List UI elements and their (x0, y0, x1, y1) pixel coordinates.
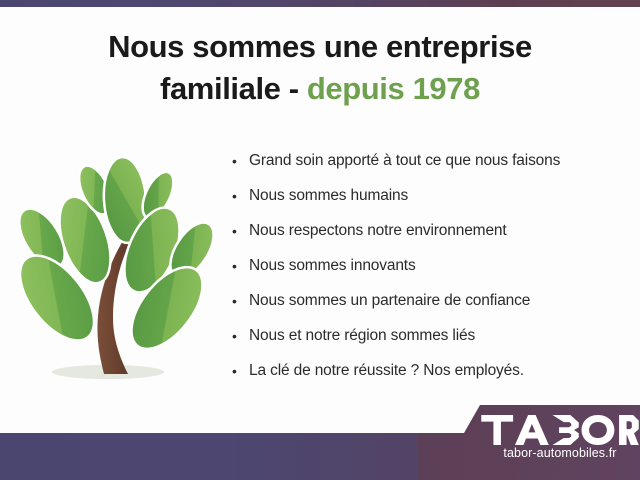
top-accent-bar (0, 0, 640, 7)
logo-url-text: tabor-automobiles.fr (480, 446, 640, 460)
list-item: Nous sommes innovants (231, 255, 631, 290)
tabor-wordmark (480, 415, 640, 445)
logo-lockup: tabor-automobiles.fr (480, 415, 640, 460)
list-item: La clé de notre réussite ? Nos employés. (231, 360, 631, 395)
list-item: Nous et notre région sommes liés (231, 325, 631, 360)
title-line-2-main: familiale - (160, 71, 307, 106)
tree-illustration (12, 150, 222, 390)
list-item: Nous respectons notre environnement (231, 220, 631, 255)
page-title: Nous sommes une entreprise familiale - d… (0, 26, 640, 110)
brand-logo-panel: tabor-automobiles.fr (418, 403, 640, 480)
title-line-1: Nous sommes une entreprise (108, 29, 532, 64)
slide-canvas: Nous sommes une entreprise familiale - d… (0, 0, 640, 480)
title-accent-text: depuis 1978 (307, 71, 480, 106)
list-item: Nous sommes humains (231, 185, 631, 220)
list-item: Grand soin apporté à tout ce que nous fa… (231, 150, 631, 185)
value-proposition-list: Grand soin apporté à tout ce que nous fa… (231, 150, 631, 395)
title-line-2: familiale - depuis 1978 (0, 68, 640, 110)
list-item: Nous sommes un partenaire de confiance (231, 290, 631, 325)
